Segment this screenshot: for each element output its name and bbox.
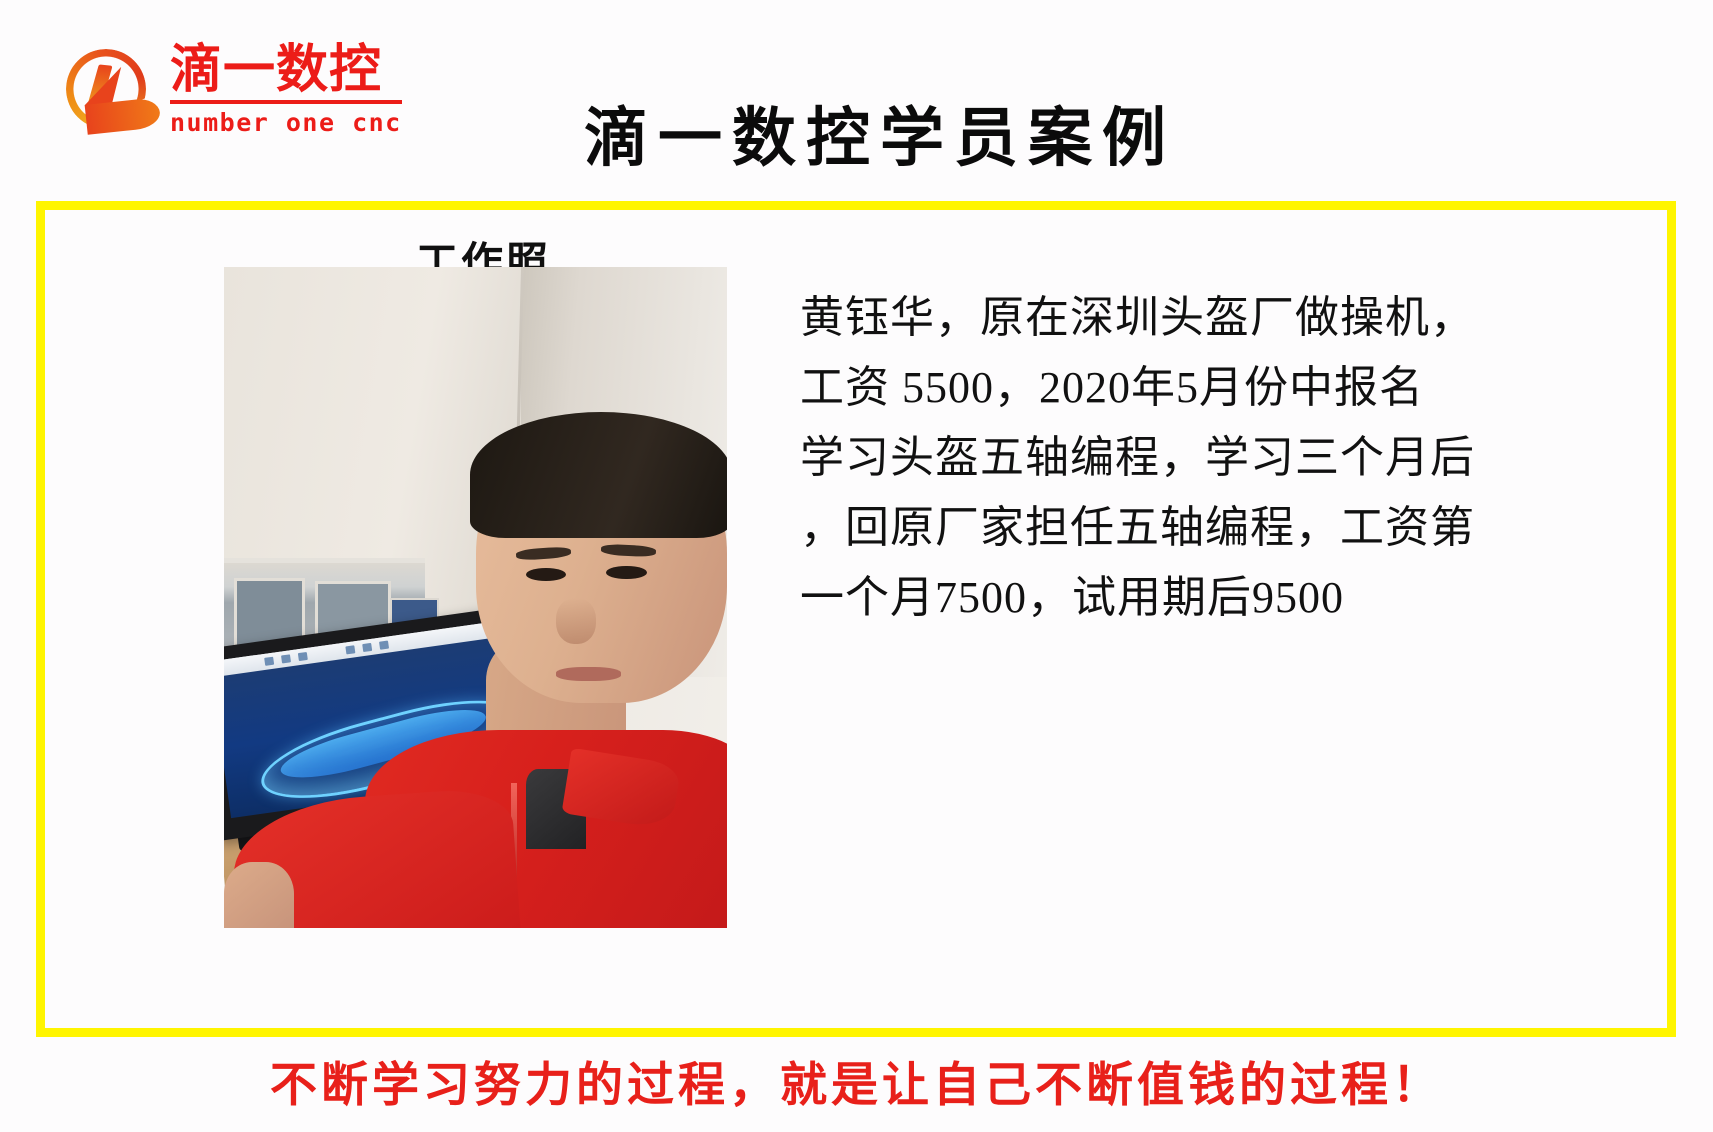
page-title: 滴一数控学员案例 xyxy=(430,104,1330,174)
case-description-line: 学习头盔五轴编程，学习三个月后 xyxy=(800,423,1540,493)
photo-cad-toolbar-icon xyxy=(264,656,274,666)
brand-logo: 滴一数控 number one cnc xyxy=(62,38,382,143)
photo-cad-toolbar-icon xyxy=(298,651,308,661)
student-workplace-photo xyxy=(224,267,727,928)
brand-logo-text: 滴一数控 number one cnc xyxy=(170,44,402,137)
photo-person-nose xyxy=(556,598,596,644)
case-description-line: 工资 5500，2020年5月份中报名 xyxy=(800,353,1540,423)
case-description-line: 黄钰华，原在深圳头盔厂做操机， xyxy=(800,283,1540,353)
photo-cad-toolbar-icon xyxy=(281,654,291,664)
photo-cad-toolbar-icon xyxy=(345,645,355,655)
case-description-line: 一个月7500，试用期后9500 xyxy=(800,563,1540,633)
photo-person-mouth xyxy=(556,667,621,682)
slide-canvas: 滴一数控 number one cnc 滴一数控学员案例 工作照 xyxy=(0,0,1713,1132)
photo-person-eye-left xyxy=(526,568,566,581)
photo-cad-toolbar-icon xyxy=(379,640,389,650)
footer-slogan: 不断学习努力的过程，就是让自己不断值钱的过程！ xyxy=(0,1046,1713,1115)
photo-person-hair xyxy=(470,412,727,538)
case-description-line: ，回原厂家担任五轴编程，工资第 xyxy=(800,493,1540,563)
photo-person-eye-right xyxy=(606,566,646,579)
photo-person-hand xyxy=(224,862,294,928)
brand-logo-english: number one cnc xyxy=(170,100,402,137)
number-one-swoosh-logo-icon xyxy=(62,43,158,139)
brand-logo-chinese: 滴一数控 xyxy=(170,44,402,97)
photo-cad-toolbar-icon xyxy=(362,642,372,652)
case-description-text: 黄钰华，原在深圳头盔厂做操机， 工资 5500，2020年5月份中报名 学习头盔… xyxy=(800,283,1540,633)
